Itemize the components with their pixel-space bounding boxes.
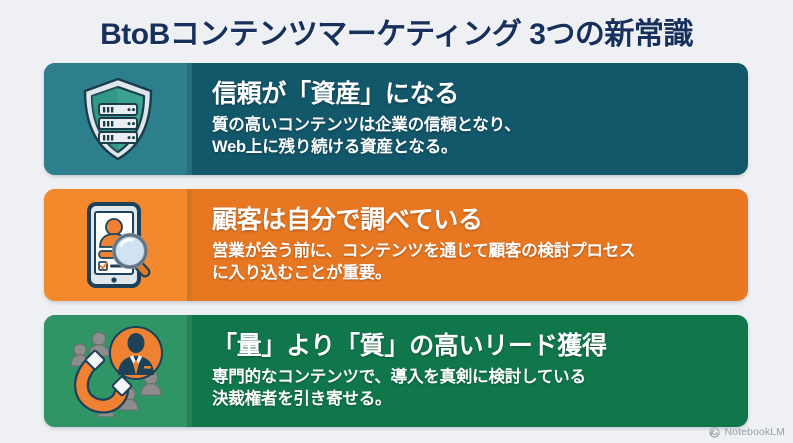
card-heading: 顧客は自分で調べている [212, 206, 732, 235]
card-heading: 「量」より「質」の高いリード獲得 [212, 332, 732, 361]
watermark: NotebookLM [709, 426, 785, 438]
tablet-search-profile-icon [76, 201, 160, 289]
infographic-page: BtoBコンテンツマーケティング 3つの新常識 [0, 0, 793, 443]
card-text-block: 顧客は自分で調べている 営業が会う前に、コンテンツを通じて顧客の検討プロセス に… [192, 189, 748, 301]
shield-server-icon [79, 76, 157, 162]
magnet-leads-icon [66, 325, 170, 417]
card-icon-panel [44, 189, 192, 301]
card-body-line: 営業が会う前に、コンテンツを通じて顧客の検討プロセス [212, 240, 732, 262]
watermark-label: NotebookLM [724, 426, 785, 438]
card-icon-panel [44, 315, 192, 427]
card-body: 専門的なコンテンツで、導入を真剣に検討している 決裁権者を引き寄せる。 [212, 366, 732, 411]
card-text-block: 信頼が「資産」になる 質の高いコンテンツは企業の信頼となり、 Web上に残り続け… [192, 63, 748, 175]
card-quality-leads: 「量」より「質」の高いリード獲得 専門的なコンテンツで、導入を真剣に検討している… [44, 315, 748, 427]
card-body-line: 質の高いコンテンツは企業の信頼となり、 [212, 114, 732, 136]
card-self-research: 顧客は自分で調べている 営業が会う前に、コンテンツを通じて顧客の検討プロセス に… [44, 189, 748, 301]
card-trust-asset: 信頼が「資産」になる 質の高いコンテンツは企業の信頼となり、 Web上に残り続け… [44, 63, 748, 175]
card-body: 質の高いコンテンツは企業の信頼となり、 Web上に残り続ける資産となる。 [212, 114, 732, 159]
card-body-line: Web上に残り続ける資産となる。 [212, 136, 732, 158]
card-icon-panel [44, 63, 192, 175]
page-title-bar: BtoBコンテンツマーケティング 3つの新常識 [0, 9, 793, 53]
card-body-line: 専門的なコンテンツで、導入を真剣に検討している [212, 366, 732, 388]
card-body-line: に入り込むことが重要。 [212, 262, 732, 284]
card-body-line: 決裁権者を引き寄せる。 [212, 388, 732, 410]
notebooklm-spark-icon [709, 427, 720, 438]
page-title: BtoBコンテンツマーケティング 3つの新常識 [100, 9, 693, 53]
card-heading: 信頼が「資産」になる [212, 80, 732, 109]
card-body: 営業が会う前に、コンテンツを通じて顧客の検討プロセス に入り込むことが重要。 [212, 240, 732, 285]
card-text-block: 「量」より「質」の高いリード獲得 専門的なコンテンツで、導入を真剣に検討している… [192, 315, 748, 427]
